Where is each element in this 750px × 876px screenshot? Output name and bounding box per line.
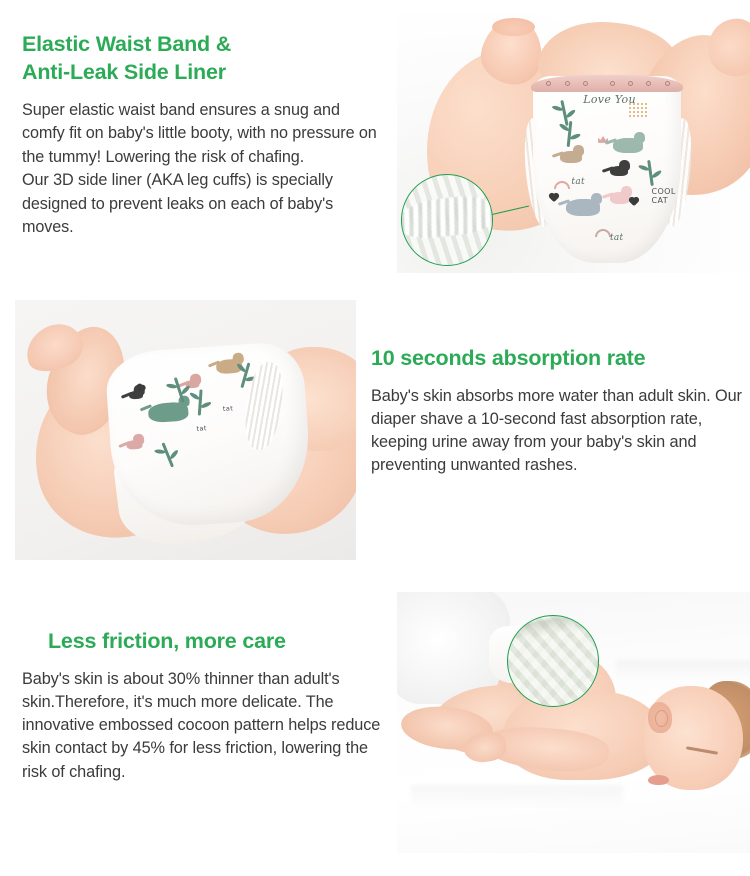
diaper-print-cat-tan — [560, 151, 582, 163]
section-3-heading: Less friction, more care — [22, 628, 382, 656]
baby-ear — [648, 702, 673, 733]
bed-sheet-fold-2 — [411, 785, 623, 808]
diaper-print-tat-2: tat — [610, 233, 624, 243]
diaper-print-rainbow-2 — [595, 229, 611, 237]
section-1-body: Super elastic waist band ensures a snug … — [22, 99, 382, 240]
diaper-print-cat-pink — [610, 192, 630, 204]
bed-sheet-fold-1 — [616, 660, 750, 681]
diaper-print-leaf-sprig-1 — [560, 100, 568, 126]
diaper-print-cat-pink — [126, 440, 143, 450]
diaper-print-cat-green — [613, 138, 643, 153]
photo-baby-lying-on-back: Love You tat tat COOL CAT — [397, 14, 750, 273]
magnified-leg-cuff-texture — [401, 192, 493, 242]
diaper-print-tat-1: tat — [571, 177, 585, 187]
photo-sleeping-baby — [397, 592, 750, 853]
diaper-print-leaf-sprig-3 — [647, 160, 654, 186]
diaper-print-heart-1 — [549, 194, 557, 202]
diaper-print-cool-cat: COOL CAT — [651, 188, 675, 206]
diaper-print-leaf-sprig-3 — [162, 442, 175, 467]
diaper-print-leaf-sprig-4 — [241, 362, 251, 388]
diaper-print-leaf-sprig-2 — [567, 121, 573, 147]
diaper-elastic-waist-band — [531, 75, 683, 92]
section-elastic-waist-band-text: Elastic Waist Band & Anti-Leak Side Line… — [22, 30, 382, 240]
diaper-print-leaf-sprig-2 — [198, 390, 203, 416]
diaper-print-heart-2 — [629, 198, 637, 206]
baby-mouth — [648, 775, 669, 785]
diaper-print-dot-cluster — [628, 102, 648, 118]
diaper-print-script-1: tat — [197, 425, 208, 433]
callout-embossed-cocoon-magnifier — [507, 615, 599, 707]
callout-side-liner-magnifier — [401, 174, 493, 266]
section-absorption-rate-text: 10 seconds absorption rate Baby's skin a… — [371, 345, 743, 478]
diaper-print-cat-black — [129, 390, 144, 399]
diaper-body: Love You tat tat COOL CAT — [533, 76, 681, 262]
product-feature-page: Elastic Waist Band & Anti-Leak Side Line… — [0, 0, 750, 876]
photo-baby-side-view: tat tat — [15, 300, 356, 560]
baby-toes — [492, 18, 534, 36]
diaper-print-script-2: tat — [223, 405, 234, 413]
diaper-print-cat-black — [610, 166, 628, 176]
section-2-body: Baby's skin absorbs more water than adul… — [371, 385, 743, 478]
section-2-heading: 10 seconds absorption rate — [371, 345, 743, 373]
section-less-friction-text: Less friction, more care Baby's skin is … — [22, 628, 382, 784]
section-3-body: Baby's skin is about 30% thinner than ad… — [22, 668, 382, 784]
section-1-heading: Elastic Waist Band & Anti-Leak Side Line… — [22, 30, 382, 87]
diaper-print-rainbow-1 — [554, 181, 570, 189]
diaper-print-dino-green — [148, 401, 189, 423]
diaper-print-cat-blue — [566, 199, 600, 216]
